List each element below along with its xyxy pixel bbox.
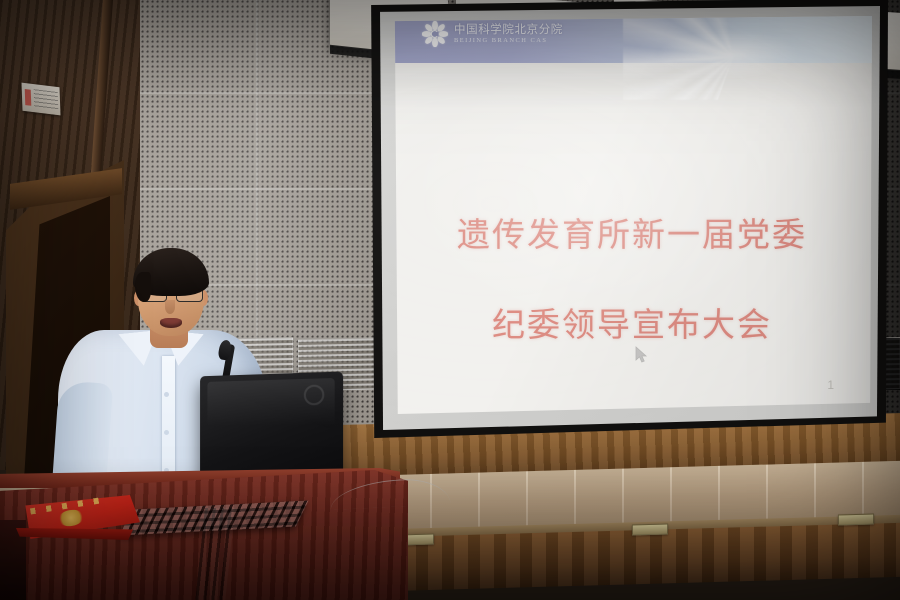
starburst-graphic-icon [623, 16, 853, 100]
slide-org-name-en: BEIJING BRANCH CAS [454, 38, 563, 45]
projected-slide[interactable]: 中国科学院北京分院 BEIJING BRANCH CAS 遗传发育所新一届党委 … [392, 16, 872, 414]
presenter-nose [165, 300, 175, 314]
screenshot-root: 中国科学院北京分院 BEIJING BRANCH CAS 遗传发育所新一届党委 … [0, 0, 900, 600]
cas-lotus-logo-icon [422, 21, 448, 47]
slide-title: 遗传发育所新一届党委 纪委领导宣布大会 [392, 168, 872, 392]
slide-title-line-1: 遗传发育所新一届党委 [392, 213, 872, 258]
presenter-mouth [160, 318, 182, 328]
wall-sign-text-lines [34, 89, 59, 111]
slide-title-line-2: 纪委领导宣布大会 [392, 303, 872, 348]
presenter-hair [133, 248, 209, 296]
wall-sign [22, 83, 61, 116]
mouse-pointer-icon [635, 346, 649, 369]
slide-number: 1 [827, 378, 834, 392]
slide-branding: 中国科学院北京分院 BEIJING BRANCH CAS [422, 21, 563, 47]
brass-floor-outlet [838, 513, 874, 525]
brass-floor-outlet [632, 523, 668, 535]
slide-org-name-cn: 中国科学院北京分院 [454, 24, 563, 36]
slide-header-band: 中国科学院北京分院 BEIJING BRANCH CAS [392, 16, 872, 63]
wall-sign-accent [25, 89, 32, 106]
